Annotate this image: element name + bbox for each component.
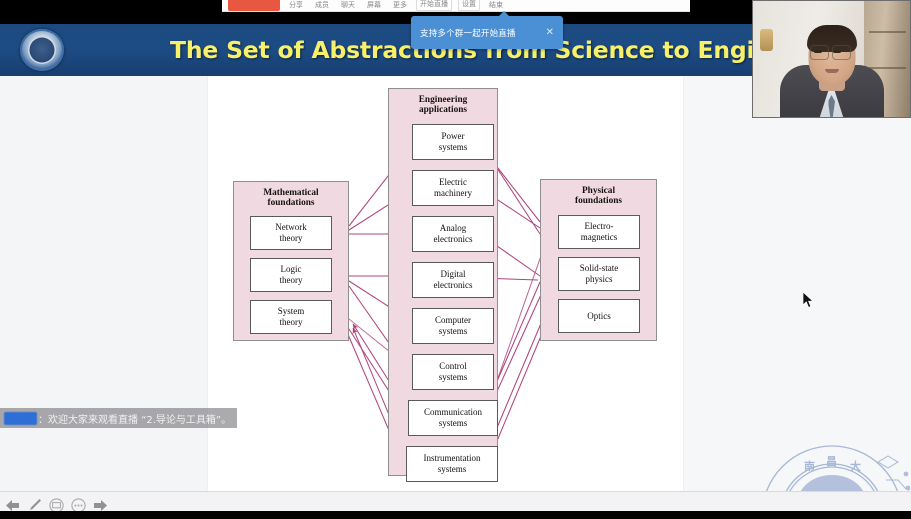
start-live-button[interactable]: 开始直播 xyxy=(416,0,452,11)
node-solid-state-physics[interactable]: Solid-statephysics xyxy=(558,257,640,291)
node-communication-systems[interactable]: Communicationsystems xyxy=(408,400,498,436)
end-button[interactable]: 结束 xyxy=(486,0,506,11)
slide-left-margin xyxy=(0,76,208,491)
mouse-cursor-icon xyxy=(803,292,815,309)
node-logic-theory[interactable]: Logictheory xyxy=(250,258,332,292)
tooltip-arrow-icon xyxy=(498,11,510,17)
chat-sender-name: 王三鹏 xyxy=(4,412,37,425)
node-network-theory[interactable]: Networktheory xyxy=(250,216,332,250)
node-instrumentation-systems[interactable]: Instrumentationsystems xyxy=(406,446,498,482)
mathematical-foundations-title: Mathematical foundations xyxy=(233,188,349,209)
slide-canvas: Mathematical foundations Networktheory L… xyxy=(0,76,911,491)
node-electric-machinery[interactable]: Electricmachinery xyxy=(412,170,494,206)
university-crest-icon xyxy=(20,29,64,71)
engineering-applications-title: Engineering applications xyxy=(388,95,498,116)
node-electromagnetics[interactable]: Electro-magnetics xyxy=(558,215,640,249)
presenter-video-thumbnail[interactable] xyxy=(752,0,911,118)
presenter-left-eye xyxy=(814,50,822,53)
lamp xyxy=(760,29,773,51)
record-button[interactable] xyxy=(228,0,280,11)
window-base-strip xyxy=(0,511,911,519)
member-button[interactable]: 成员 xyxy=(312,0,332,11)
node-computer-systems[interactable]: Computersystems xyxy=(412,308,494,344)
chat-message-text: ：欢迎大家来观看直播 “2.导论与工具箱”。 xyxy=(38,411,231,426)
screen-share-window: 分享 成员 聊天 屏幕 更多 开始直播 设置 结束 支持多个群一起开始直播 ✕ … xyxy=(0,0,911,519)
slide-right-margin xyxy=(683,76,911,491)
node-digital-electronics[interactable]: Digitalelectronics xyxy=(412,262,494,298)
live-tooltip: 支持多个群一起开始直播 ✕ xyxy=(411,16,563,49)
more-button[interactable]: 更多 xyxy=(390,0,410,11)
node-optics[interactable]: Optics xyxy=(558,299,640,333)
chat-message: 王三鹏 ：欢迎大家来观看直播 “2.导论与工具箱”。 xyxy=(0,408,237,428)
node-system-theory[interactable]: Systemtheory xyxy=(250,300,332,334)
screen-button[interactable]: 屏幕 xyxy=(364,0,384,11)
node-analog-electronics[interactable]: Analogelectronics xyxy=(412,216,494,252)
abstractions-diagram: Mathematical foundations Networktheory L… xyxy=(208,76,683,491)
settings-button[interactable]: 设置 xyxy=(458,0,480,11)
node-control-systems[interactable]: Controlsystems xyxy=(412,354,494,390)
share-button[interactable]: 分享 xyxy=(286,0,306,11)
physical-foundations-title: Physical foundations xyxy=(540,186,657,207)
presenter-mouth xyxy=(825,69,839,73)
node-power-systems[interactable]: Powersystems xyxy=(412,124,494,160)
close-icon[interactable]: ✕ xyxy=(546,28,554,38)
tooltip-text: 支持多个群一起开始直播 xyxy=(420,27,516,39)
chat-button[interactable]: 聊天 xyxy=(338,0,358,11)
presenter-right-eye xyxy=(833,50,841,53)
